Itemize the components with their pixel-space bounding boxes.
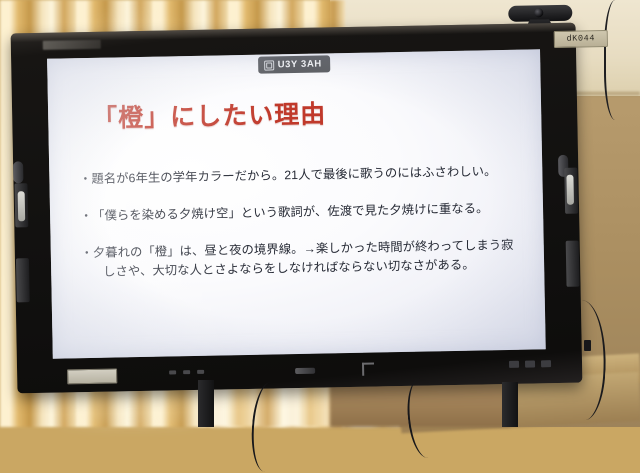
webcam-lens-icon (534, 8, 543, 17)
stylus-tray-right-lower[interactable] (566, 241, 580, 287)
display-screen[interactable]: U3Y 3AH 「橙」にしたい理由 ・ 題名が6年生の学年カラーだから。21人で… (47, 49, 546, 358)
hdmi-port[interactable] (525, 360, 535, 367)
slide-badge-label: U3Y 3AH (278, 58, 322, 70)
bullet-marker-icon: ・ (81, 244, 93, 262)
bezel-logo-icon (362, 363, 374, 376)
slide-title: 「橙」にしたい理由 (92, 94, 327, 134)
stylus-pen-left[interactable] (18, 191, 26, 221)
stand-leg-right (502, 382, 518, 427)
menu-button[interactable] (183, 370, 190, 374)
bezel-knob-left[interactable] (13, 161, 23, 183)
bullet-line: 「僕らを染める夕焼け空」という歌詞が、佐渡で見た夕焼けに重なる。 (92, 201, 489, 223)
power-button[interactable] (169, 370, 176, 374)
brand-logo-icon (43, 40, 101, 50)
port-row[interactable] (509, 360, 551, 368)
input-button[interactable] (197, 370, 204, 374)
hardware-button-row[interactable] (169, 370, 204, 375)
slide-bullet-list: ・ 題名が6年生の学年カラーだから。21人で最後に歌うのにはふさわしい。 ・ 「… (79, 162, 521, 300)
usb-port[interactable] (509, 361, 519, 368)
interactive-display-unit[interactable]: dK044 U3Y 3AH 「橙」にしたい理由 ・ 題名が6年生の学年カラーだか… (11, 23, 583, 394)
bullet-text: 「僕らを染める夕焼け空」という歌詞が、佐渡で見た夕焼けに重なる。 (92, 199, 489, 226)
slide-app-badge[interactable]: U3Y 3AH (258, 55, 330, 73)
bullet-text: 題名が6年生の学年カラーだから。21人で最後に歌うのにはふさわしい。 (91, 162, 496, 189)
bullet-line-continued: しさや、大切な人とさよならをしなければならない切なさがある。 (103, 255, 514, 282)
bullet-marker-icon: ・ (80, 207, 92, 225)
list-item: ・ 夕暮れの「橙」は、昼と夜の境界線。→楽しかった時間が終わってしまう寂 しさや… (81, 236, 522, 282)
presentation-slide: U3Y 3AH 「橙」にしたい理由 ・ 題名が6年生の学年カラーだから。21人で… (47, 49, 546, 358)
bullet-text: 夕暮れの「橙」は、昼と夜の境界線。→楽しかった時間が終わってしまう寂 しさや、大… (93, 236, 515, 282)
bullet-marker-icon: ・ (79, 170, 91, 188)
cable-clip (584, 340, 591, 351)
asset-tag-label: dK044 (554, 30, 608, 48)
bottom-bezel-label (67, 368, 117, 384)
stand-leg-left (198, 380, 214, 427)
app-window-icon (264, 60, 274, 70)
list-item: ・ 「僕らを染める夕焼け空」という歌詞が、佐渡で見た夕焼けに重なる。 (80, 199, 520, 226)
ir-sensor-icon (295, 368, 315, 374)
bullet-line: 題名が6年生の学年カラーだから。21人で最後に歌うのにはふさわしい。 (91, 164, 496, 186)
stylus-tray-left-lower[interactable] (16, 258, 30, 302)
list-item: ・ 題名が6年生の学年カラーだから。21人で最後に歌うのにはふさわしい。 (79, 162, 519, 189)
audio-port[interactable] (541, 360, 551, 367)
ceiling-cable (604, 0, 632, 120)
stylus-pen-right[interactable] (566, 175, 574, 205)
